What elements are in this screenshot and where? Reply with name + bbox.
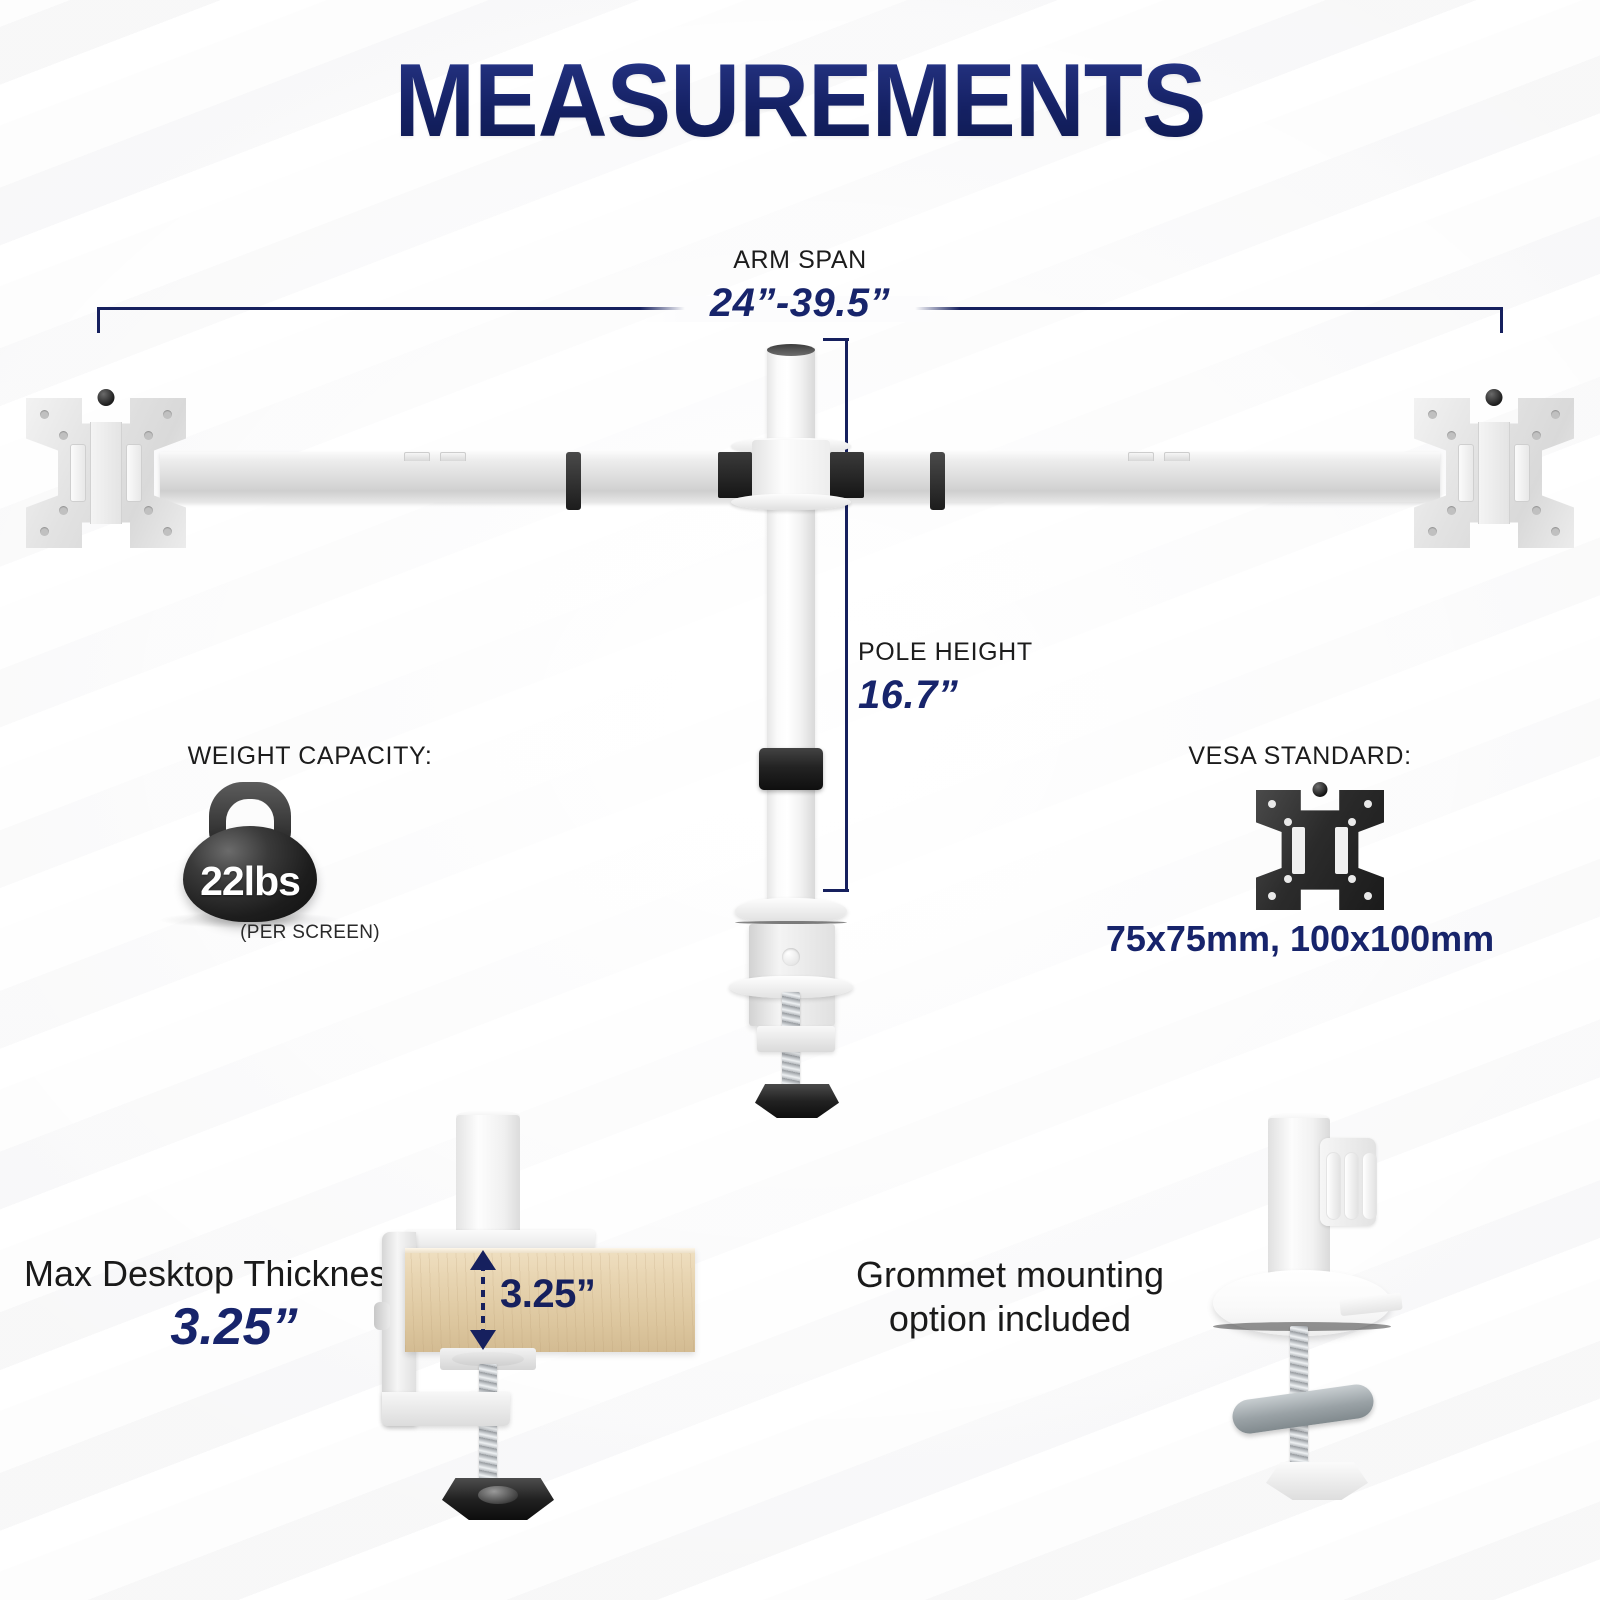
grommet-tube-b bbox=[1344, 1152, 1359, 1220]
arm-span-value: 24”-39.5” bbox=[0, 281, 1600, 326]
grommet-mount-illustration bbox=[0, 0, 1600, 1600]
grommet-tube-a bbox=[1326, 1152, 1341, 1220]
arm-span-value-text: 24”-39.5” bbox=[696, 281, 904, 325]
grommet-foot bbox=[1266, 1462, 1368, 1500]
grommet-tube-c bbox=[1362, 1152, 1377, 1220]
